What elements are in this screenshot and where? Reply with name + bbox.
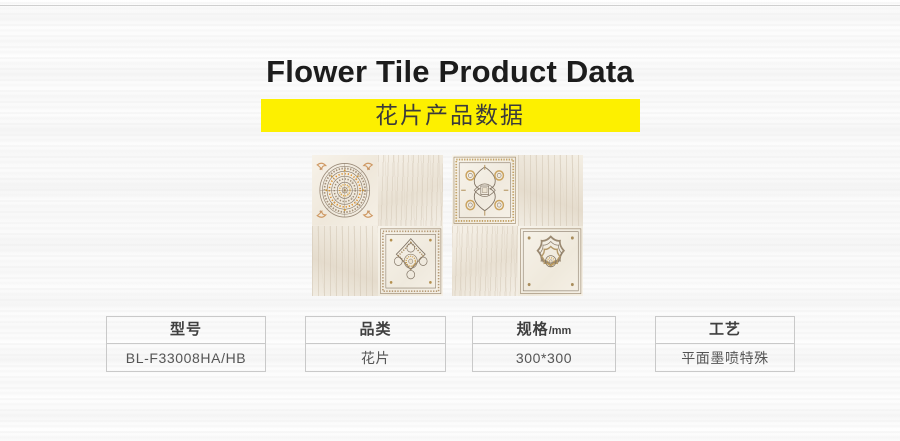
spec-column-model: 型号 BL-F33008HA/HB <box>106 316 266 372</box>
specification-table: 型号 BL-F33008HA/HB 品类 花片 规格/mm 300*300 <box>106 316 795 372</box>
product-data-page: Flower Tile Product Data 花片产品数据 <box>0 0 900 441</box>
circular-mandala-medallion-icon <box>312 155 378 226</box>
flower-tile-sample-b <box>452 155 583 296</box>
four-petal-floral-medallion-icon <box>378 226 444 297</box>
spec-value-label: 花片 <box>361 350 390 366</box>
top-divider-rule <box>0 5 900 6</box>
tile-a-cell-bottom-left <box>312 226 378 297</box>
title-block: Flower Tile Product Data 花片产品数据 <box>0 52 900 132</box>
spec-header-cell: 品类 <box>306 317 445 344</box>
ornate-square-medallion-icon <box>452 155 518 226</box>
tile-b-cell-top-left <box>452 155 518 226</box>
spec-column-process: 工艺 平面墨喷特殊 <box>655 316 795 372</box>
tile-b-cell-top-right <box>518 155 584 226</box>
spec-header-cell: 规格/mm <box>473 317 615 344</box>
spec-value-label: BL-F33008HA/HB <box>126 350 246 366</box>
tile-a-cell-bottom-right <box>378 226 444 297</box>
tile-a-cell-top-left <box>312 155 378 226</box>
tile-b-cell-bottom-right <box>518 226 584 297</box>
spec-header-label: 工艺 <box>709 322 741 339</box>
subtitle-text: 花片产品数据 <box>375 99 525 132</box>
spec-header-cell: 型号 <box>107 317 265 344</box>
spec-column-size: 规格/mm 300*300 <box>472 316 616 372</box>
spec-value-cell: 平面墨喷特殊 <box>656 344 794 371</box>
subtitle-banner: 花片产品数据 <box>261 99 640 132</box>
scalloped-flower-medallion-icon <box>518 226 584 297</box>
spec-value-label: 平面墨喷特殊 <box>681 350 769 366</box>
spec-header-label: 规格/mm <box>517 322 572 339</box>
flower-tile-sample-a <box>312 155 443 296</box>
spec-value-cell: BL-F33008HA/HB <box>107 344 265 371</box>
spec-value-cell: 花片 <box>306 344 445 371</box>
spec-value-cell: 300*300 <box>473 344 615 371</box>
product-image-gallery <box>312 155 584 296</box>
page-title: Flower Tile Product Data <box>0 52 900 92</box>
spec-header-cell: 工艺 <box>656 317 794 344</box>
spec-column-category: 品类 花片 <box>305 316 446 372</box>
tile-b-cell-bottom-left <box>452 226 518 297</box>
spec-header-label: 品类 <box>359 322 391 339</box>
tile-a-cell-top-right <box>378 155 444 226</box>
spec-value-label: 300*300 <box>516 350 572 366</box>
spec-header-label: 型号 <box>170 322 202 339</box>
